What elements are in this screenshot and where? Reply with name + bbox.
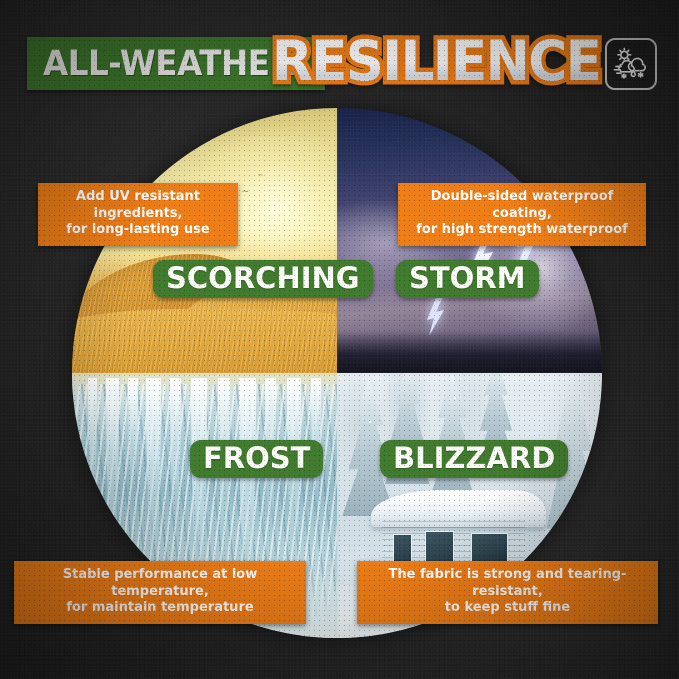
sand-ripples — [72, 294, 337, 374]
bird-icon: ∼ — [242, 188, 250, 197]
label-storm: STORM — [396, 260, 539, 298]
snowflake-particle — [369, 421, 371, 423]
label-scorching: SCORCHING — [153, 260, 373, 298]
caption-tearing-resistant: The fabric is strong and tearing-resista… — [357, 561, 658, 624]
label-frost: FROST — [190, 440, 323, 478]
title-all-weather: ALL-WEATHER — [43, 44, 294, 84]
weather-badge — [605, 38, 657, 90]
all-weather-resilience-poster: ALL-WEATHER RESILIENCE RESILIENCE — [0, 0, 679, 679]
caption-uv-resistant: Add UV resistant ingredients, for long-l… — [38, 183, 238, 246]
title-resilience-stroke: RESILIENCE — [272, 29, 600, 93]
bird-icon: ∼ — [258, 172, 264, 179]
caption-low-temperature: Stable performance at low temperature, f… — [14, 561, 306, 624]
cabin-window — [471, 533, 508, 565]
storm-treeline — [337, 331, 602, 373]
snowflake-particle — [454, 397, 456, 399]
label-blizzard: BLIZZARD — [380, 440, 568, 478]
sun-cloud-rain-snow-wind-icon — [611, 44, 651, 84]
poster-header: ALL-WEATHER RESILIENCE RESILIENCE — [0, 30, 679, 96]
caption-waterproof: Double-sided waterproof coating, for hig… — [398, 183, 646, 246]
